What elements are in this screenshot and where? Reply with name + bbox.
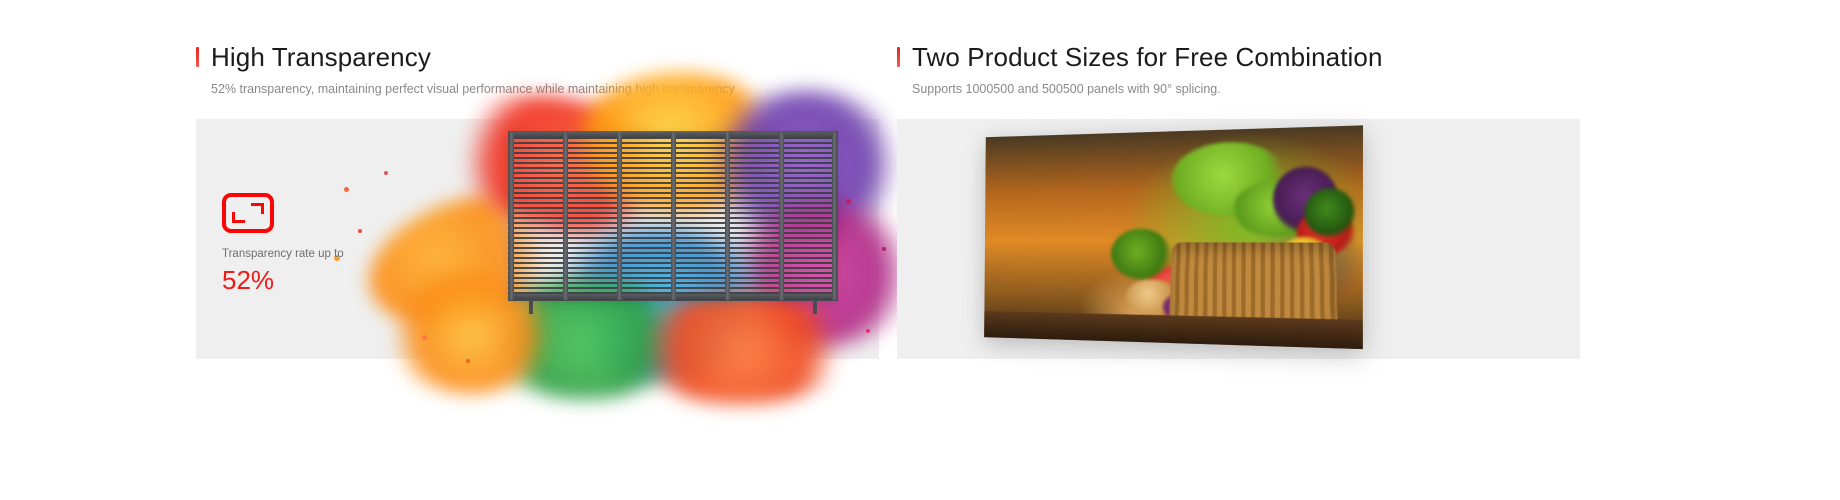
feature-column-high-transparency: High Transparency 52% transparency, main… xyxy=(196,40,879,359)
cabinet-leg xyxy=(529,300,533,314)
cabinet-rib xyxy=(725,132,730,300)
accent-bar-icon xyxy=(897,47,900,67)
splash-blob-orange-bottom xyxy=(626,294,856,404)
paint-splash-artwork xyxy=(326,79,926,379)
cabinet-rib xyxy=(779,132,784,300)
led-display-screen xyxy=(984,125,1363,349)
splash-speck xyxy=(384,171,388,175)
feature-media-inner-left: Transparency rate up to 52% xyxy=(196,119,879,359)
cabinet-leg xyxy=(813,300,817,314)
transparency-badge-value: 52% xyxy=(222,265,362,295)
page-title-high-transparency: High Transparency xyxy=(211,42,431,72)
feature-media-panel-right xyxy=(897,119,1580,359)
splash-speck xyxy=(846,199,851,204)
splash-speck xyxy=(466,359,470,363)
angled-led-display xyxy=(985,137,1355,337)
cabinet-rib xyxy=(832,132,837,300)
feature-column-two-product-sizes: Two Product Sizes for Free Combination S… xyxy=(897,40,1580,359)
expand-frame-corner-bottom-left-icon xyxy=(232,212,245,223)
feature-highlights-page: High Transparency 52% transparency, main… xyxy=(0,0,1840,500)
cabinet-rib xyxy=(509,132,514,300)
splash-speck xyxy=(866,329,870,333)
feature-subtitle-two-product-sizes: Supports 1000500 and 500500 panels with … xyxy=(912,81,1580,97)
splash-speck xyxy=(422,335,427,340)
transparent-led-cabinet xyxy=(508,131,838,301)
feature-media-inner-right xyxy=(897,119,1580,359)
vegetable-broccoli xyxy=(1305,188,1355,237)
feature-columns: High Transparency 52% transparency, main… xyxy=(196,40,1580,359)
cabinet-rib xyxy=(671,132,676,300)
feature-heading-row-left: High Transparency xyxy=(196,40,879,74)
page-title-two-product-sizes: Two Product Sizes for Free Combination xyxy=(912,42,1383,72)
transparency-badge-caption: Transparency rate up to xyxy=(222,247,362,261)
cabinet-rib xyxy=(563,132,568,300)
feature-media-panel-left: Transparency rate up to 52% xyxy=(196,119,879,359)
expand-frame-corner-top-right-icon xyxy=(251,203,264,214)
feature-heading-row-right: Two Product Sizes for Free Combination xyxy=(897,40,1580,74)
splash-speck xyxy=(344,187,349,192)
splash-speck xyxy=(882,247,886,251)
transparency-badge: Transparency rate up to 52% xyxy=(222,193,362,295)
cabinet-rib xyxy=(617,132,622,300)
expand-frame-icon xyxy=(222,193,274,233)
accent-bar-icon xyxy=(196,47,199,67)
